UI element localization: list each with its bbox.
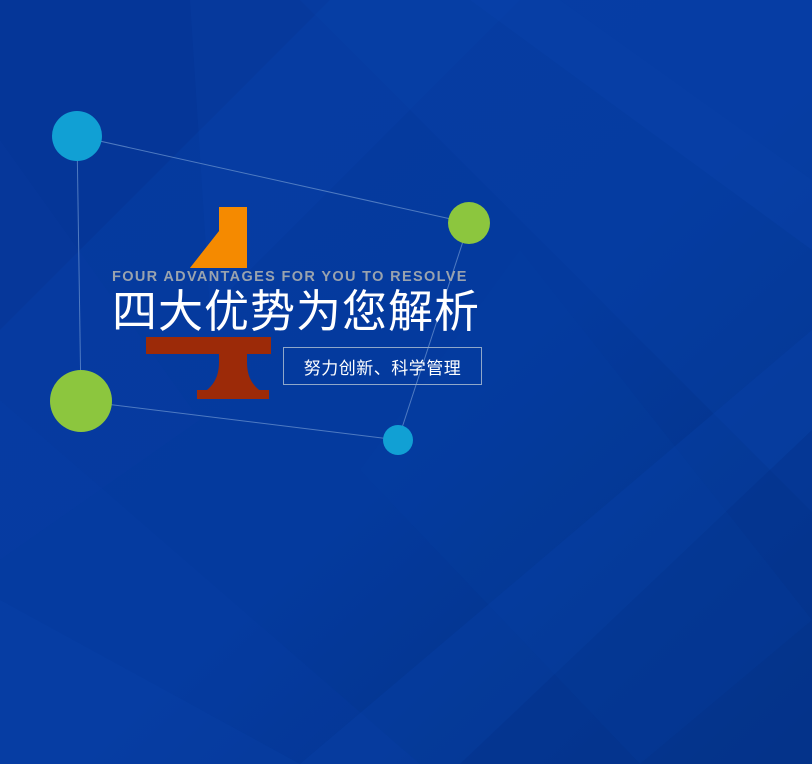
edge-topleft-to-green	[77, 136, 469, 223]
banner-headline: 四大优势为您解析	[112, 286, 672, 338]
banner-text-block: FOUR ADVANTAGES FOR YOU TO RESOLVE 四大优势为…	[112, 268, 672, 385]
node-bottom-left	[50, 370, 112, 432]
banner-tagline-row: 努力创新、科学管理	[112, 347, 672, 385]
banner-stage: FOUR ADVANTAGES FOR YOU TO RESOLVE 四大优势为…	[0, 0, 812, 764]
banner-tagline-text: 努力创新、科学管理	[304, 354, 462, 379]
edge-bottom-to-cyan	[81, 401, 398, 440]
node-top-left	[52, 111, 102, 161]
node-bottom-cyan	[383, 425, 413, 455]
banner-tagline-box: 努力创新、科学管理	[283, 347, 482, 385]
edge-topleft-to-bottom	[77, 136, 81, 401]
node-right-green	[448, 202, 490, 244]
banner-eyebrow-text: FOUR ADVANTAGES FOR YOU TO RESOLVE	[112, 268, 672, 286]
